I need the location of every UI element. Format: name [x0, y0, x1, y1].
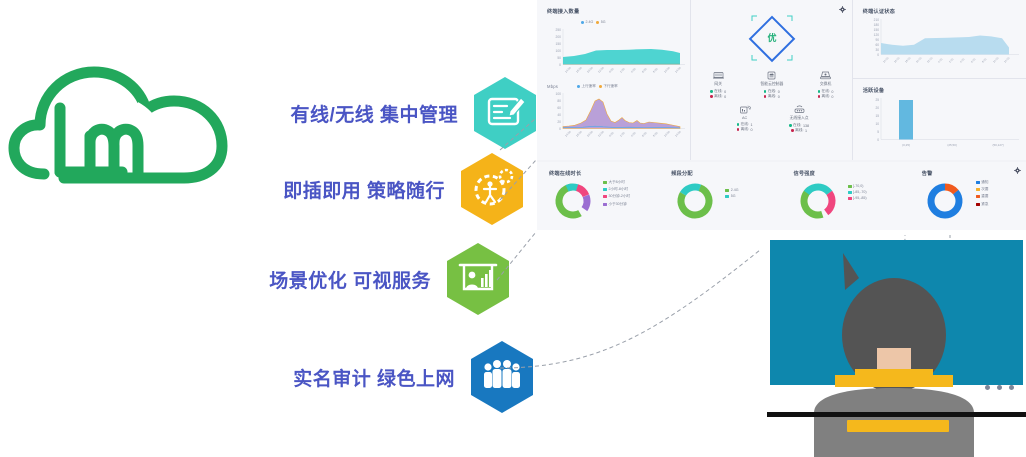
health-score-badge: 优 — [743, 12, 801, 64]
device-summary-grid: 网关 在线: 0 离线: 0 — [691, 70, 852, 133]
donut-chart — [674, 180, 716, 222]
svg-text:2:00: 2:00 — [619, 67, 626, 74]
offline-dot — [710, 95, 712, 97]
svg-text:10:00: 10:00 — [663, 130, 671, 138]
svg-text:8:00: 8:00 — [652, 131, 659, 138]
svg-text:(25,50]: (25,50] — [947, 143, 957, 147]
legend-item: [-85,-70) — [848, 190, 867, 194]
feature-icon-wrap[interactable] — [469, 340, 535, 414]
svg-text:0:00: 0:00 — [937, 57, 944, 64]
donut-legend: 2.4G 5G — [725, 188, 738, 198]
panel-title: 信号强度 — [794, 170, 816, 177]
feature-label: 实名审计 绿色上网 — [240, 364, 469, 391]
chart-unit-label: Mbps — [547, 84, 558, 89]
legend-swatch — [976, 188, 980, 191]
legend-label: [-85,-70) — [853, 190, 867, 194]
device-card-ac[interactable]: AC 在线: 1 离线: 0 — [717, 104, 772, 133]
svg-text:25: 25 — [875, 98, 879, 102]
dot-2[interactable] — [997, 385, 1002, 390]
device-name: AC — [742, 116, 747, 120]
gateway-icon — [712, 70, 725, 81]
legend-item: 5G — [596, 20, 605, 24]
svg-text:5: 5 — [877, 130, 879, 134]
legend-swatch — [976, 195, 980, 198]
legend-label: 重要 — [981, 194, 988, 199]
panel-title: 终端认证状态 — [863, 8, 895, 15]
dot-3[interactable] — [1009, 385, 1014, 390]
device-offline: 离线: 0 — [737, 127, 753, 132]
legend-label: 2.4G — [586, 20, 594, 24]
offline-count: 0 — [750, 128, 752, 132]
svg-text:100: 100 — [555, 49, 561, 53]
legend-item: 2.4G — [725, 188, 738, 192]
svg-text:6:00: 6:00 — [641, 67, 648, 74]
offline-label: 离线: — [822, 94, 830, 99]
svg-text:40: 40 — [557, 113, 561, 117]
svg-text:14:00: 14:00 — [564, 130, 572, 138]
legend-item: 上行速率 — [577, 84, 596, 89]
online-count: 0 — [831, 90, 833, 94]
donut-card-alarm[interactable]: 告警 通知 次要 重要 — [904, 162, 1026, 230]
legend-label: 30分钟-2小时 — [609, 194, 631, 199]
legend-item: 通知 — [976, 180, 989, 185]
offline-count: 0 — [778, 95, 780, 99]
device-card-cloud-controller[interactable]: 智能云控制器 在线: 0 离线: 0 — [745, 70, 799, 99]
svg-text:20:00: 20:00 — [915, 56, 923, 64]
legend-label: 次要 — [981, 187, 988, 192]
svg-text:2:00: 2:00 — [948, 57, 955, 64]
chart-auth-status: 210180150 1209060 300 14:00 16:00 18:00 … — [859, 16, 1025, 76]
panel-title: 终端在线时长 — [549, 170, 581, 177]
device-offline: 离线: 1 — [791, 128, 807, 133]
device-offline: 离线: 0 — [818, 94, 834, 99]
device-card-ap[interactable]: 无线接入点 在线: 138 离线: 1 — [772, 104, 827, 133]
svg-text:6:00: 6:00 — [641, 131, 648, 138]
pagination-dots[interactable] — [985, 385, 1014, 390]
panel-active-devices[interactable]: 活跃设备 252015 1050 (0,25] (25,50] (50,127] — [853, 79, 1026, 160]
device-card-switch[interactable]: 交换机 在线: 0 离线: 0 — [799, 70, 853, 99]
offline-dot — [818, 95, 820, 97]
panel-auth-status[interactable]: 终端认证状态 210180150 1209060 300 14:00 16:00 — [853, 0, 1026, 79]
cloud-controller-icon — [765, 70, 778, 81]
legend-item: 2.4G — [581, 20, 593, 24]
legend-label: 下行速率 — [603, 84, 617, 89]
svg-text:30: 30 — [875, 48, 879, 52]
feature-icon-wrap[interactable] — [472, 76, 538, 150]
legend-swatch — [596, 21, 599, 24]
svg-text:14:00: 14:00 — [882, 56, 890, 64]
svg-text:2:00: 2:00 — [619, 131, 626, 138]
device-offline: 离线: 0 — [710, 94, 726, 99]
svg-text:20: 20 — [557, 120, 561, 124]
offline-dot — [791, 129, 793, 131]
offline-dot — [764, 95, 766, 97]
device-offline: 离线: 0 — [764, 94, 780, 99]
donut-legend: 通知 次要 重要 紧急 — [976, 180, 989, 207]
people-group-icon — [469, 340, 535, 414]
svg-text:(0,25]: (0,25] — [902, 143, 910, 147]
legend-label: [-95,-85) — [853, 196, 867, 200]
offline-label: 离线: — [714, 94, 722, 99]
svg-text:(50,127]: (50,127] — [992, 143, 1003, 147]
legend-swatch — [725, 195, 729, 198]
panel-title: 终端接入数量 — [547, 8, 579, 15]
device-card-gateway[interactable]: 网关 在线: 0 离线: 0 — [691, 70, 745, 99]
online-dot — [764, 90, 766, 92]
svg-text:80: 80 — [557, 99, 561, 103]
svg-text:18:00: 18:00 — [575, 66, 583, 74]
legend-item: 2小时-8小时 — [603, 187, 630, 192]
ac-icon — [738, 104, 751, 115]
feature-label: 场景优化 可视服务 — [216, 266, 445, 293]
svg-text:0: 0 — [559, 127, 561, 131]
svg-text:100: 100 — [555, 92, 561, 96]
presentation-chart-icon — [445, 242, 511, 316]
legend-swatch — [603, 195, 607, 198]
switch-icon — [819, 70, 832, 81]
svg-text:22:00: 22:00 — [597, 66, 605, 74]
svg-text:22:00: 22:00 — [597, 130, 605, 138]
legend-item: [-70,0) — [848, 184, 867, 188]
legend-swatch — [599, 85, 602, 88]
feature-row-1[interactable]: 有线/无线 集中管理 — [243, 76, 538, 150]
legend-label: 小于30分钟 — [609, 202, 627, 207]
donut-chart — [552, 180, 594, 222]
chart-active-devices: 252015 1050 (0,25] (25,50] (50,127] — [859, 95, 1025, 157]
feature-icon-wrap[interactable] — [459, 152, 525, 226]
panel-title: 告警 — [922, 170, 933, 177]
legend-swatch — [848, 185, 852, 188]
svg-text:210: 210 — [873, 18, 879, 22]
svg-text:150: 150 — [873, 28, 879, 32]
online-dot — [737, 123, 739, 125]
svg-text:0: 0 — [877, 138, 879, 142]
dashboard-top-row: 终端接入数量 2.4G 5G 250200150 100500 — [537, 0, 1026, 160]
person-at-monitor-illustration — [767, 238, 1026, 457]
legend-item: 次要 — [976, 187, 989, 192]
svg-text:0: 0 — [877, 53, 879, 57]
legend-label: 通知 — [981, 180, 988, 185]
donut-card-band-distribution[interactable]: 频段分配 2.4G 5G — [659, 162, 781, 230]
svg-text:8:00: 8:00 — [981, 57, 988, 64]
online-count: 1 — [750, 123, 752, 127]
slide-canvas: 有线/无线 集中管理 即插即用 策略随行 — [0, 0, 1026, 457]
legend-label: 大于8小时 — [609, 180, 625, 185]
svg-text:150: 150 — [555, 42, 561, 46]
legend-label: 5G — [731, 194, 736, 198]
device-row-2: AC 在线: 1 离线: 0 — [691, 104, 852, 133]
feature-label: 有线/无线 集中管理 — [243, 100, 472, 127]
offline-label: 离线: — [795, 128, 803, 133]
svg-text:90: 90 — [875, 38, 879, 42]
svg-text:20: 20 — [875, 106, 879, 110]
legend-swatch — [577, 85, 580, 88]
legend-swatch — [603, 188, 607, 191]
online-dot — [710, 90, 712, 92]
online-dot — [789, 124, 791, 126]
offline-count: 1 — [805, 129, 807, 133]
svg-text:14:00: 14:00 — [674, 66, 682, 74]
svg-text:10:00: 10:00 — [992, 56, 1000, 64]
device-name: 无线接入点 — [790, 116, 809, 121]
svg-text:15: 15 — [875, 114, 879, 118]
donut-chart — [924, 180, 966, 222]
svg-text:180: 180 — [873, 23, 879, 27]
donut-legend: [-70,0) [-85,-70) [-95,-85) — [848, 184, 867, 200]
svg-text:0:00: 0:00 — [608, 67, 615, 74]
legend-label: [-70,0) — [853, 184, 863, 188]
svg-text:4:00: 4:00 — [630, 131, 637, 138]
donut-legend: 大于8小时 2小时-8小时 30分钟-2小时 小于30分钟 — [603, 180, 630, 207]
svg-text:8:00: 8:00 — [652, 67, 659, 74]
feature-row-2[interactable]: 即插即用 策略随行 — [230, 152, 525, 226]
svg-text:14:00: 14:00 — [674, 130, 682, 138]
gear-icon[interactable] — [839, 6, 846, 13]
device-name: 交换机 — [820, 82, 831, 87]
legend-swatch — [848, 191, 852, 194]
legend-swatch — [603, 203, 607, 206]
panel-terminal-access[interactable]: 终端接入数量 2.4G 5G 250200150 100500 — [537, 0, 691, 160]
chart-throughput: 1008060 40200 14:00 18:00 20:00 22:00 0:… — [543, 90, 689, 150]
svg-text:120: 120 — [873, 33, 879, 37]
device-name: 智能云控制器 — [760, 82, 783, 87]
legend-swatch — [848, 197, 852, 200]
svg-text:6:00: 6:00 — [970, 57, 977, 64]
offline-count: 0 — [831, 95, 833, 99]
feature-row-4[interactable]: 实名审计 绿色上网 — [240, 340, 535, 414]
svg-text:18:00: 18:00 — [904, 56, 912, 64]
gear-icon[interactable] — [1014, 167, 1021, 174]
svg-text:20:00: 20:00 — [586, 66, 594, 74]
panel-title: 活跃设备 — [863, 87, 885, 94]
offline-label: 离线: — [741, 127, 749, 132]
svg-text:50: 50 — [557, 56, 561, 60]
legend-top: 2.4G 5G — [581, 20, 606, 24]
svg-text:4:00: 4:00 — [630, 67, 637, 74]
svg-text:10:00: 10:00 — [663, 66, 671, 74]
svg-text:18:00: 18:00 — [575, 130, 583, 138]
panel-right-column: 终端认证状态 210180150 1209060 300 14:00 16:00 — [853, 0, 1026, 160]
legend-swatch — [603, 181, 607, 184]
legend-swatch — [976, 181, 980, 184]
legend-item: [-95,-85) — [848, 196, 867, 200]
device-name: 网关 — [714, 82, 722, 87]
svg-text:16:00: 16:00 — [893, 56, 901, 64]
legend-item: 大于8小时 — [603, 180, 630, 185]
legend-item: 30分钟-2小时 — [603, 194, 630, 199]
svg-text:14:00: 14:00 — [564, 66, 572, 74]
legend-label: 上行速率 — [582, 84, 596, 89]
legend-item: 重要 — [976, 194, 989, 199]
legend-swatch — [725, 189, 729, 192]
svg-text:250: 250 — [555, 28, 561, 32]
online-count: 138 — [803, 124, 809, 128]
svg-text:22:00: 22:00 — [926, 56, 934, 64]
svg-text:10: 10 — [875, 122, 879, 126]
legend-swatch — [976, 203, 980, 206]
dashboard-donut-row: 终端在线时长 大于8小时 2小时-8小时 — [537, 162, 1026, 230]
legend-bottom: 上行速率 下行速率 — [577, 84, 618, 89]
legend-item: 5G — [725, 194, 738, 198]
donut-chart — [797, 180, 839, 222]
legend-item: 下行速率 — [599, 84, 618, 89]
feature-icon-wrap[interactable] — [445, 242, 511, 316]
svg-text:200: 200 — [555, 35, 561, 39]
donut-card-online-duration[interactable]: 终端在线时长 大于8小时 2小时-8小时 — [537, 162, 659, 230]
online-count: 0 — [724, 90, 726, 94]
svg-text:60: 60 — [875, 43, 879, 47]
svg-text:0:00: 0:00 — [608, 131, 615, 138]
legend-label: 5G — [601, 20, 606, 24]
dot-1[interactable] — [985, 385, 990, 390]
document-pen-icon — [472, 76, 538, 150]
svg-text:14:00: 14:00 — [1003, 56, 1011, 64]
offline-label: 离线: — [768, 94, 776, 99]
svg-text:60: 60 — [557, 106, 561, 110]
cloud-lm-logo — [4, 24, 244, 216]
legend-label: 紧急 — [981, 202, 988, 207]
chart-terminal-access-count: 250200150 100500 14:00 18:00 20:00 22:00… — [543, 26, 689, 78]
dashboard[interactable]: 终端接入数量 2.4G 5G 250200150 100500 — [537, 0, 1026, 230]
donut-card-signal-strength[interactable]: 信号强度 [-70,0) [-85,-70) — [782, 162, 904, 230]
legend-swatch — [581, 21, 584, 24]
legend-label: 2.4G — [731, 188, 739, 192]
svg-text:20:00: 20:00 — [586, 130, 594, 138]
online-count: 0 — [778, 90, 780, 94]
ap-icon — [793, 104, 806, 115]
online-dot — [818, 90, 820, 92]
offline-dot — [737, 128, 739, 130]
svg-text:0: 0 — [559, 63, 561, 67]
feature-label: 即插即用 策略随行 — [230, 176, 459, 203]
legend-item: 紧急 — [976, 202, 989, 207]
device-row-1: 网关 在线: 0 离线: 0 — [691, 70, 852, 99]
health-score-text: 优 — [768, 32, 777, 43]
panel-network-health[interactable]: 优 网关 在线: — [691, 0, 852, 160]
gear-person-icon — [459, 152, 525, 226]
offline-count: 0 — [724, 95, 726, 99]
legend-item: 小于30分钟 — [603, 202, 630, 207]
feature-row-3[interactable]: 场景优化 可视服务 — [216, 242, 511, 316]
legend-label: 2小时-8小时 — [609, 187, 629, 192]
svg-text:4:00: 4:00 — [959, 57, 966, 64]
panel-title: 频段分配 — [671, 170, 693, 177]
